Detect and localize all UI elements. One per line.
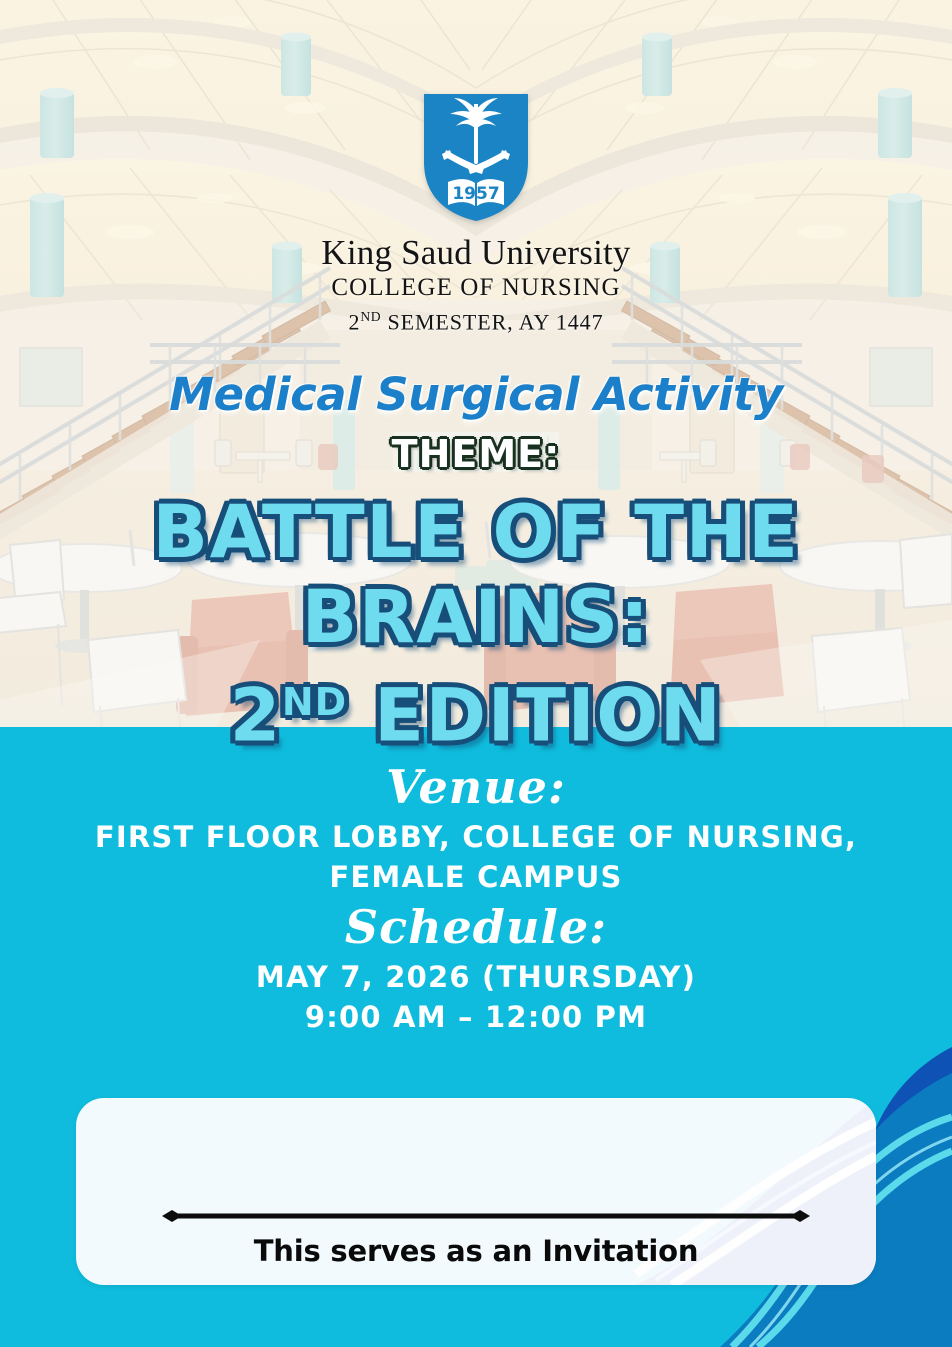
edition-ordinal-suffix: ND [282, 680, 347, 724]
venue-line-2: FEMALE CAMPUS [0, 857, 952, 897]
activity-title: Medical Surgical Activity [0, 369, 952, 421]
theme-label-row: THEME: [0, 432, 952, 476]
event-poster: 1957 King Saud University COLLEGE OF NUR… [0, 0, 952, 1347]
schedule-time: 9:00 AM – 12:00 PM [0, 997, 952, 1037]
king-saud-university-shield-icon: 1957 [420, 88, 532, 224]
semester-line: 2ND SEMESTER, AY 1447 [0, 303, 952, 336]
university-header: King Saud University COLLEGE OF NURSING … [0, 233, 952, 336]
main-title-line-1: BATTLE OF THE BRAINS: [0, 490, 952, 660]
theme-label: THEME: [392, 432, 561, 476]
venue-label: Venue: [0, 757, 952, 817]
university-name: King Saud University [0, 233, 952, 273]
event-details: Venue: FIRST FLOOR LOBBY, COLLEGE OF NUR… [0, 757, 952, 1037]
main-title: BATTLE OF THE BRAINS: 2ND EDITION [0, 490, 952, 758]
edition-prefix: 2 [230, 673, 282, 758]
venue-line-1: FIRST FLOOR LOBBY, COLLEGE OF NURSING, [0, 817, 952, 857]
edition-rest: EDITION [347, 673, 722, 758]
logo-year-text: 1957 [452, 184, 499, 204]
schedule-date: MAY 7, 2026 (THURSDAY) [0, 957, 952, 997]
semester-ordinal-suffix: ND [360, 309, 381, 324]
invitation-note: This serves as an Invitation [0, 1234, 952, 1268]
main-title-line-2: 2ND EDITION [0, 660, 952, 758]
logo-container: 1957 [0, 88, 952, 224]
college-name: COLLEGE OF NURSING [0, 273, 952, 303]
semester-prefix: 2 [349, 309, 361, 334]
semester-rest: SEMESTER, AY 1447 [381, 309, 603, 334]
schedule-label: Schedule: [0, 897, 952, 957]
diamond-ended-rule-icon [160, 1210, 812, 1222]
